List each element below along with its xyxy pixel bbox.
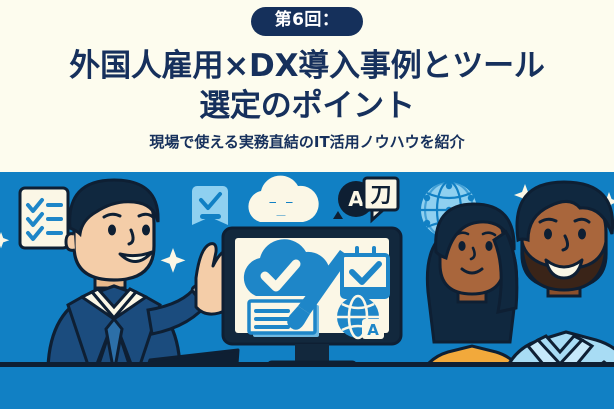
- svg-text:A: A: [367, 321, 379, 339]
- calendar-check-icon: [342, 248, 388, 297]
- svg-text:A: A: [348, 187, 364, 211]
- banner-header: 第6回： 外国人雇用×DX導入事例とツール 選定のポイント 現場で使える実務直結…: [0, 0, 614, 172]
- desk-edge: [0, 362, 614, 367]
- illustration-panel: A 刀: [0, 172, 614, 409]
- episode-badge-wrap: 第6回：: [0, 7, 614, 36]
- checklist-card-icon: [20, 188, 68, 248]
- page-title: 外国人雇用×DX導入事例とツール 選定のポイント: [0, 46, 614, 127]
- svg-text:刀: 刀: [371, 183, 392, 207]
- page-subtitle: 現場で使える実務直結のIT活用ノウハウを紹介: [0, 133, 614, 151]
- desk-front: [0, 367, 614, 409]
- episode-badge: 第6回：: [251, 7, 364, 36]
- title-line-1: 外国人雇用×DX導入事例とツール: [0, 46, 614, 86]
- illustration-artwork: A 刀: [0, 172, 614, 409]
- title-line-2: 選定のポイント: [0, 86, 614, 126]
- seminar-banner: 第6回： 外国人雇用×DX導入事例とツール 選定のポイント 現場で使える実務直結…: [0, 0, 614, 409]
